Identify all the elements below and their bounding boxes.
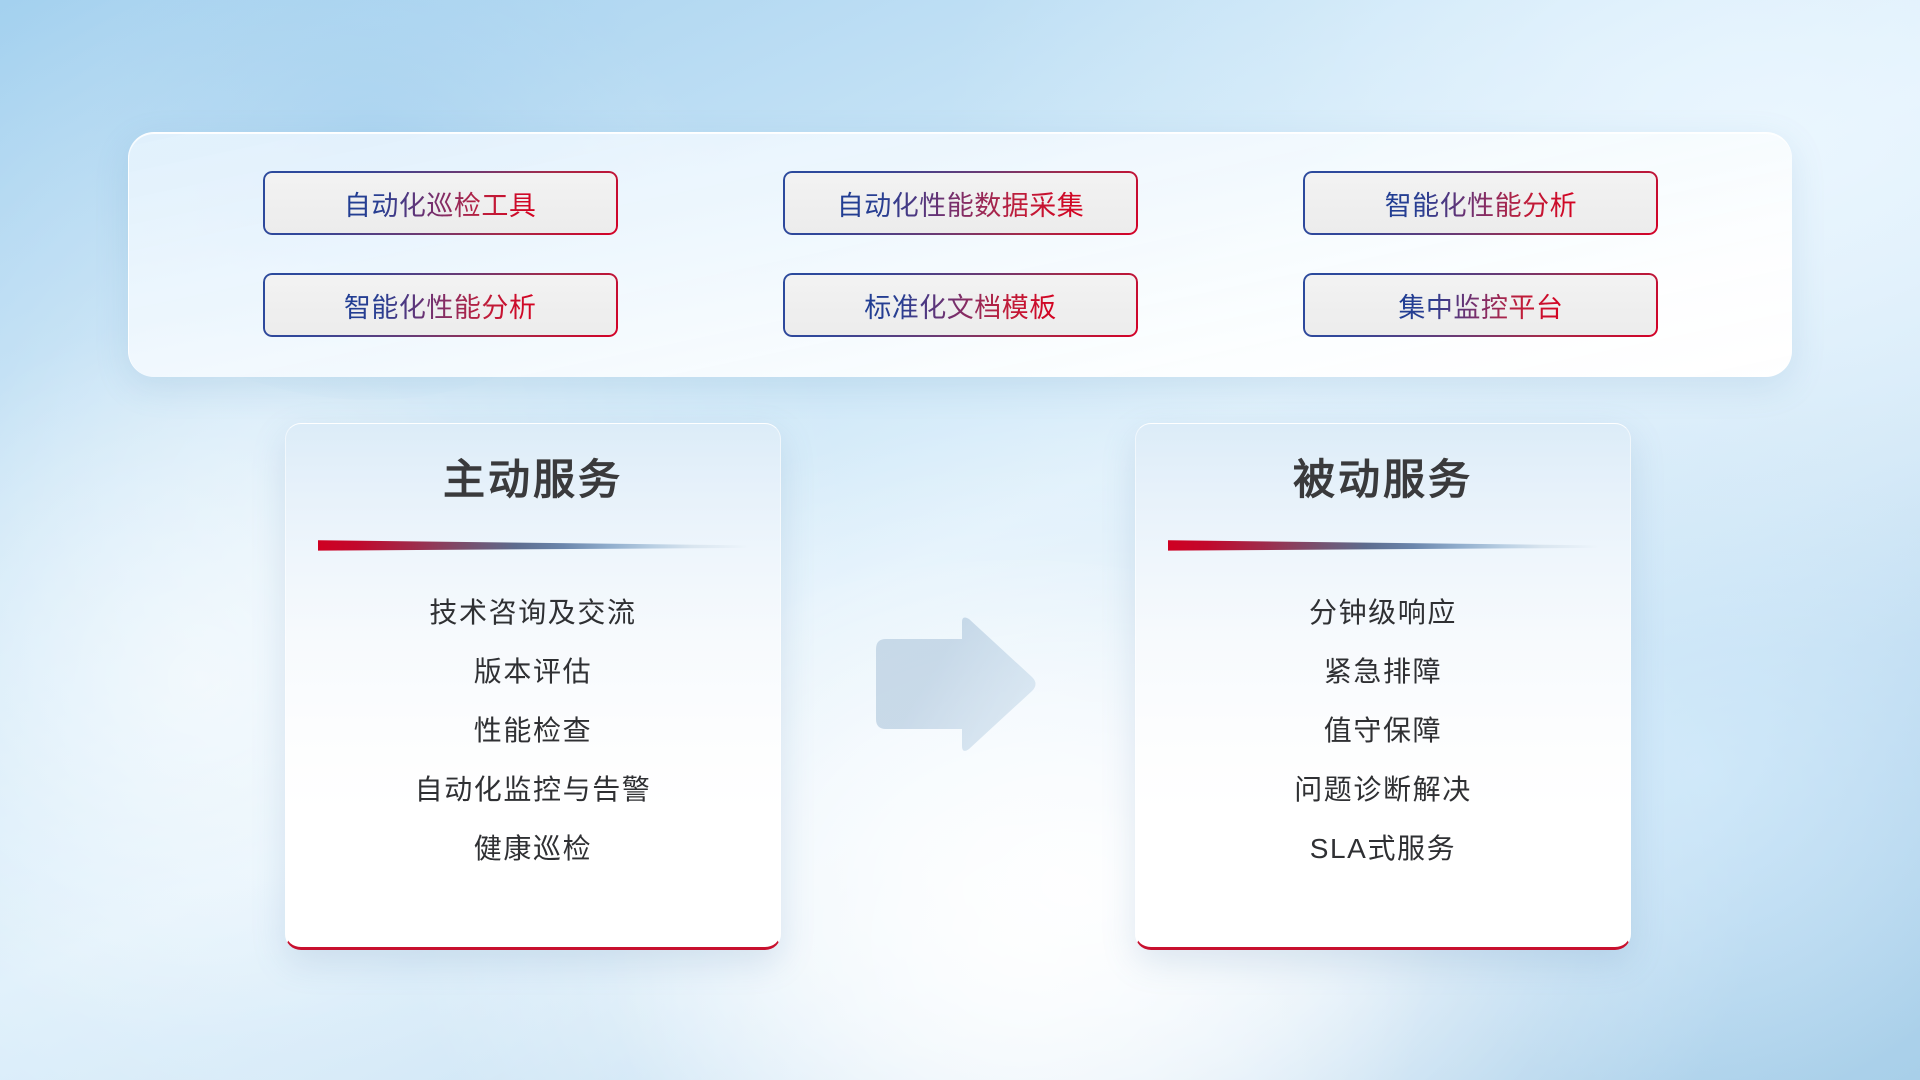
list-item: 健康巡检	[286, 819, 780, 878]
capability-pill-label: 集中监控平台	[1398, 286, 1563, 325]
reactive-service-card: 被动服务 分钟级响应 紧急排障 值守保障 问题诊断解决 SLA式服务	[1135, 423, 1631, 950]
capability-pill[interactable]: 智能化性能分析	[1303, 171, 1658, 235]
list-item: 值守保障	[1136, 701, 1630, 760]
capability-pill-label: 智能化性能分析	[1385, 184, 1578, 223]
card-title: 被动服务	[1136, 456, 1630, 504]
capabilities-panel: 自动化巡检工具 自动化性能数据采集 智能化性能分析 智能化性能分析 标准化文档模…	[128, 132, 1792, 377]
arrow-right-icon	[874, 615, 1038, 755]
proactive-service-list: 技术咨询及交流 版本评估 性能检查 自动化监控与告警 健康巡检	[286, 583, 780, 878]
card-title: 主动服务	[286, 456, 780, 504]
card-divider	[1168, 539, 1598, 553]
list-item: 问题诊断解决	[1136, 760, 1630, 819]
capability-pill-label: 自动化巡检工具	[344, 184, 537, 223]
capability-pill-label: 标准化文档模板	[864, 286, 1057, 325]
capability-pill[interactable]: 集中监控平台	[1303, 273, 1658, 337]
list-item: 紧急排障	[1136, 642, 1630, 701]
diagram-canvas: 自动化巡检工具 自动化性能数据采集 智能化性能分析 智能化性能分析 标准化文档模…	[0, 0, 1920, 1080]
list-item: 分钟级响应	[1136, 583, 1630, 642]
list-item: 性能检查	[286, 701, 780, 760]
capability-pill-label: 智能化性能分析	[344, 286, 537, 325]
list-item: 技术咨询及交流	[286, 583, 780, 642]
divider-wedge	[1168, 539, 1598, 553]
capability-pill-grid: 自动化巡检工具 自动化性能数据采集 智能化性能分析 智能化性能分析 标准化文档模…	[129, 133, 1792, 377]
capability-pill-label: 自动化性能数据采集	[837, 184, 1085, 223]
capability-pill[interactable]: 自动化巡检工具	[263, 171, 618, 235]
divider-wedge	[318, 539, 748, 553]
card-divider	[318, 539, 748, 553]
list-item: SLA式服务	[1136, 819, 1630, 878]
list-item: 版本评估	[286, 642, 780, 701]
capability-pill[interactable]: 智能化性能分析	[263, 273, 618, 337]
capability-pill[interactable]: 自动化性能数据采集	[783, 171, 1138, 235]
reactive-service-list: 分钟级响应 紧急排障 值守保障 问题诊断解决 SLA式服务	[1136, 583, 1630, 878]
capability-pill[interactable]: 标准化文档模板	[783, 273, 1138, 337]
list-item: 自动化监控与告警	[286, 760, 780, 819]
proactive-service-card: 主动服务 技术咨询及交流 版本评估 性能检查 自动化监控与告警 健康巡检	[285, 423, 781, 950]
